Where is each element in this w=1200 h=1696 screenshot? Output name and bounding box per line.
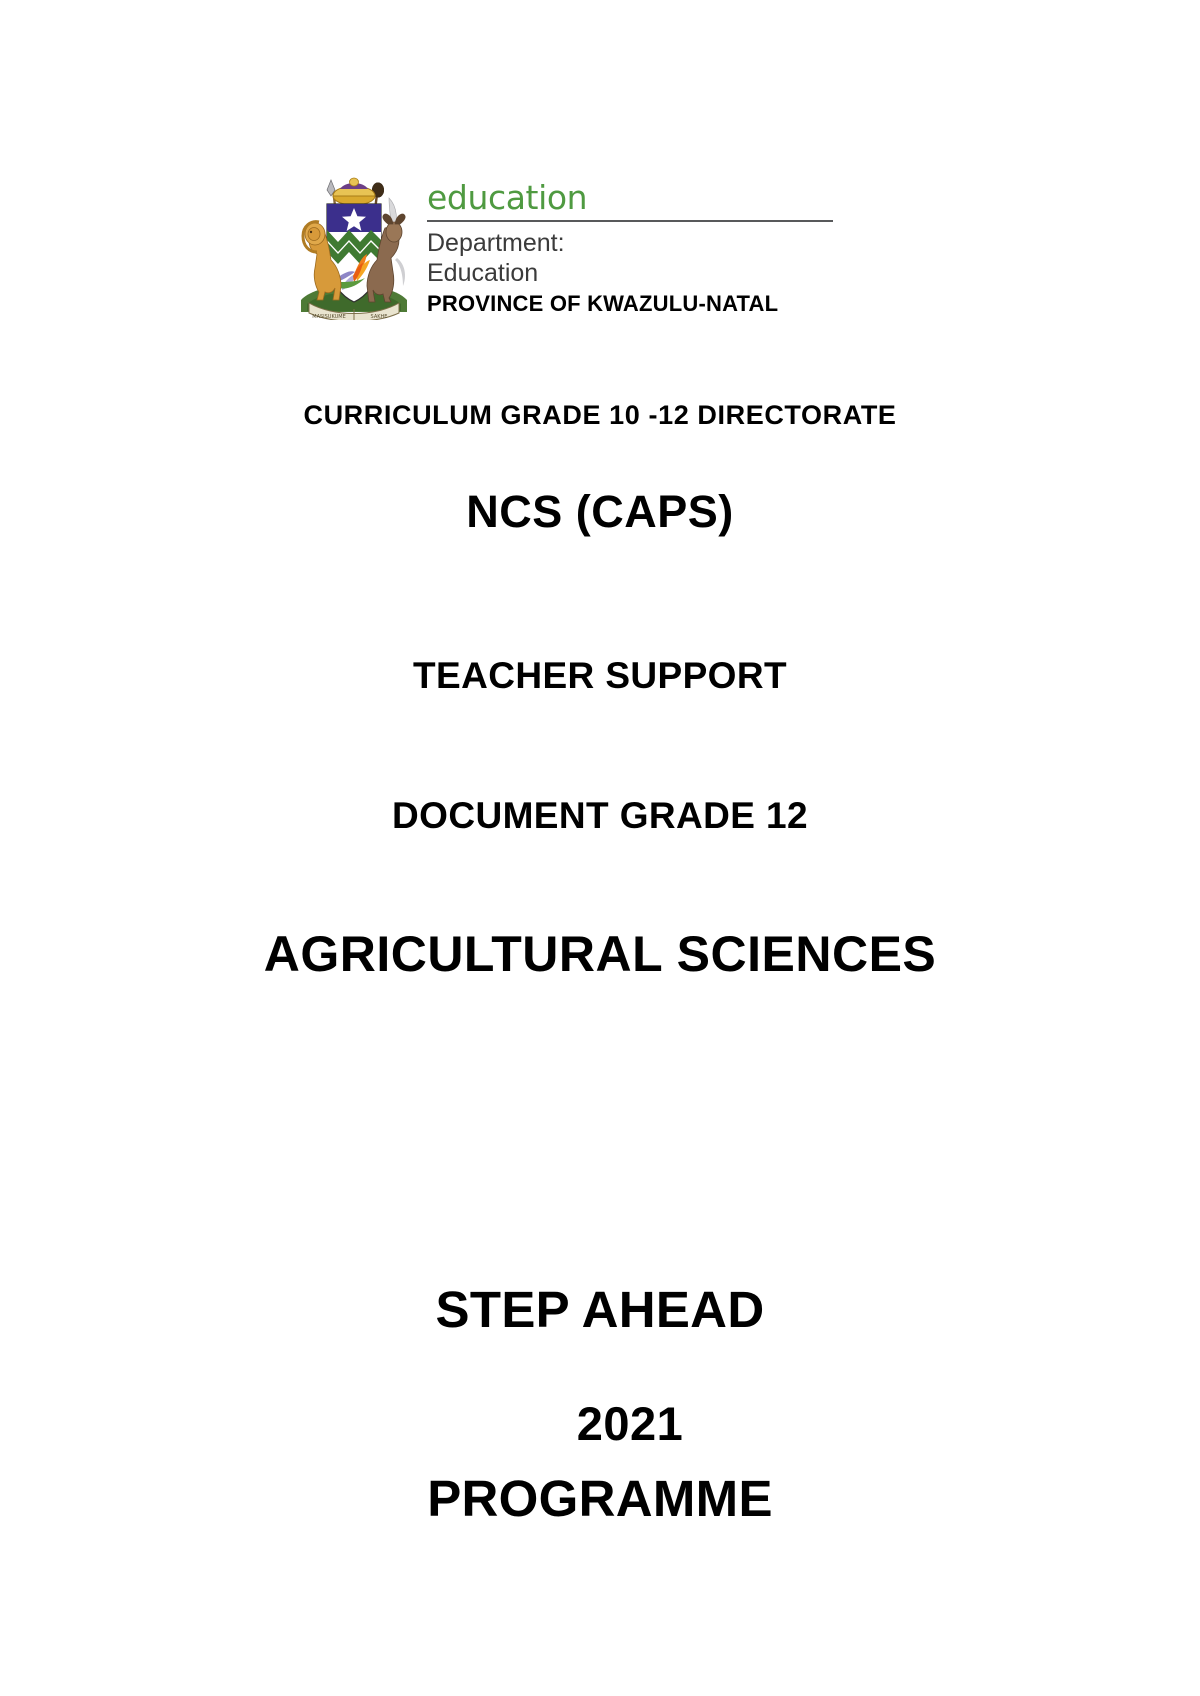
svg-text:SAKHE: SAKHE: [371, 314, 388, 320]
letterhead: MASISUKUME SAKHE: [293, 172, 833, 324]
kwazulu-natal-coat-of-arms-icon: MASISUKUME SAKHE: [293, 172, 415, 320]
department-name: Education: [427, 258, 833, 288]
programme-line-1: STEP AHEAD: [0, 1278, 1200, 1341]
curriculum-heading: NCS (CAPS): [0, 486, 1200, 538]
programme-line-2: PROGRAMME: [0, 1467, 1200, 1530]
letterhead-text: education Department: Education PROVINCE…: [415, 172, 833, 318]
province-name: PROVINCE OF KWAZULU-NATAL: [427, 290, 833, 318]
teacher-support-heading: TEACHER SUPPORT: [0, 655, 1200, 697]
subject-heading: AGRICULTURAL SCIENCES: [0, 925, 1200, 983]
education-wordmark: education: [427, 180, 833, 216]
department-label: Department:: [427, 228, 833, 258]
directorate-heading: CURRICULUM GRADE 10 -12 DIRECTORATE: [0, 400, 1200, 431]
cover-page: MASISUKUME SAKHE: [0, 0, 1200, 1696]
svg-text:MASISUKUME: MASISUKUME: [312, 314, 346, 320]
year-label: 2021: [0, 1396, 1200, 1451]
document-grade-heading: DOCUMENT GRADE 12: [0, 795, 1200, 837]
letterhead-divider: [427, 220, 833, 222]
